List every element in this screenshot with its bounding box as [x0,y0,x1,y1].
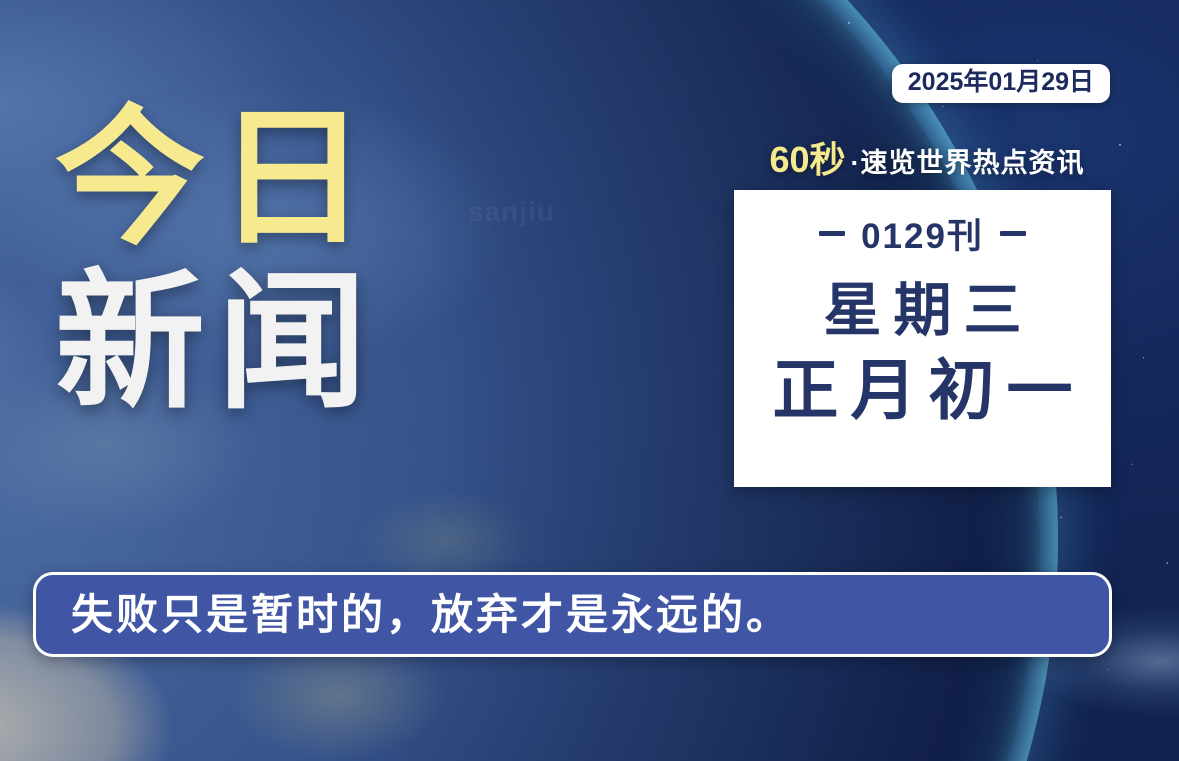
quote-banner: 失败只是暂时的，放弃才是永远的。 [33,572,1112,657]
quote-text: 失败只是暂时的，放弃才是永远的。 [36,594,791,636]
title-line-news: 新闻 [55,268,475,418]
poster-canvas: sanjiu 今日 新闻 2025年01月29日 60秒·速览世界热点资讯 01… [0,0,1179,761]
background-watermark: sanjiu [468,196,555,228]
date-badge: 2025年01月29日 [892,64,1110,103]
poster-title: 今日 新闻 [55,104,475,418]
title-line-today: 今日 [55,104,475,254]
info-card: 0129刊 星期三 正月初一 [734,190,1111,487]
weekday-label: 星期三 [811,281,1033,342]
issue-row: 0129刊 [819,208,1026,259]
dash-right-icon [1000,231,1026,236]
lunar-date-label: 正月初一 [761,356,1085,425]
tagline-rest: ·速览世界热点资讯 [851,148,1085,178]
tagline-highlight: 60秒 [769,139,845,180]
dash-left-icon [819,231,845,236]
tagline: 60秒·速览世界热点资讯 [741,142,1113,178]
issue-number: 0129刊 [861,208,984,259]
